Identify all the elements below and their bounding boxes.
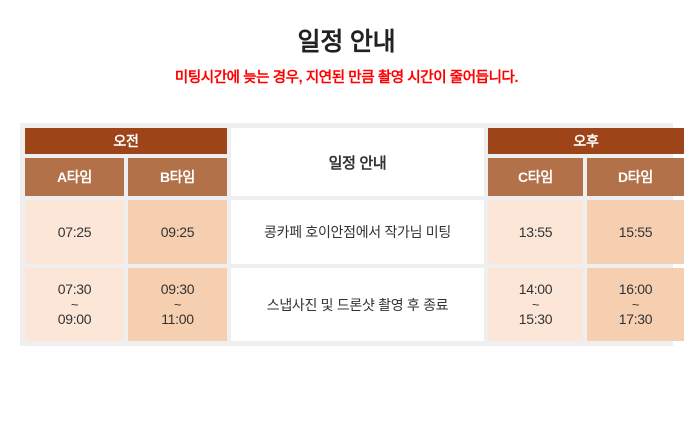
time-value-c-row2: 14:00 ~ 15:30 [519, 281, 553, 327]
page-heading: 일정 안내 미팅시간에 늦는 경우, 지연된 만큼 촬영 시간이 줄어듭니다. [0, 0, 693, 86]
page-title: 일정 안내 [0, 29, 693, 57]
column-header-d-time: D타임 [587, 158, 684, 196]
center-header-schedule: 일정 안내 [231, 128, 484, 196]
time-separator: ~ [632, 298, 639, 311]
table-row: 14:00 ~ 15:30 [488, 268, 583, 341]
time-separator: ~ [174, 298, 181, 311]
time-start: 13:55 [519, 224, 553, 241]
description-row1: 콩카페 호이안점에서 작가님 미팅 [231, 200, 484, 264]
time-value-b-row1: 09:25 [161, 224, 195, 241]
table-row: 13:55 [488, 200, 583, 264]
table-row: 07:30 ~ 09:00 [25, 268, 124, 341]
time-end: 17:30 [619, 311, 653, 328]
time-value-a-row1: 07:25 [58, 224, 92, 241]
time-separator: ~ [71, 298, 78, 311]
time-start: 16:00 [619, 281, 653, 298]
table-row: 07:25 [25, 200, 124, 264]
time-separator: ~ [532, 298, 539, 311]
time-end: 11:00 [161, 311, 194, 328]
table-row: 09:30 ~ 11:00 [128, 268, 227, 341]
time-value-c-row1: 13:55 [519, 224, 553, 241]
column-header-b-time: B타임 [128, 158, 227, 196]
time-start: 15:55 [619, 224, 653, 241]
column-header-c-time: C타임 [488, 158, 583, 196]
time-start: 09:30 [161, 281, 195, 298]
group-header-afternoon: 오후 [488, 128, 684, 154]
group-header-morning: 오전 [25, 128, 227, 154]
time-start: 07:30 [58, 281, 92, 298]
description-row2: 스냅사진 및 드론샷 촬영 후 종료 [231, 268, 484, 341]
time-end: 15:30 [519, 311, 553, 328]
time-value-a-row2: 07:30 ~ 09:00 [58, 281, 92, 327]
schedule-grid: 오전 일정 안내 오후 A타임 B타임 C타임 D타임 07:25 09:25 … [25, 128, 668, 341]
table-row: 16:00 ~ 17:30 [587, 268, 684, 341]
warning-notice: 미팅시간에 늦는 경우, 지연된 만큼 촬영 시간이 줄어듭니다. [0, 71, 693, 87]
schedule-table: 오전 일정 안내 오후 A타임 B타임 C타임 D타임 07:25 09:25 … [20, 123, 673, 346]
time-start: 14:00 [519, 281, 553, 298]
time-start: 09:25 [161, 224, 195, 241]
time-value-d-row1: 15:55 [619, 224, 653, 241]
schedule-page: 일정 안내 미팅시간에 늦는 경우, 지연된 만큼 촬영 시간이 줄어듭니다. … [0, 0, 693, 421]
time-end: 09:00 [58, 311, 92, 328]
time-start: 07:25 [58, 224, 92, 241]
table-row: 15:55 [587, 200, 684, 264]
time-value-b-row2: 09:30 ~ 11:00 [161, 281, 195, 327]
column-header-a-time: A타임 [25, 158, 124, 196]
table-row: 09:25 [128, 200, 227, 264]
time-value-d-row2: 16:00 ~ 17:30 [619, 281, 653, 327]
